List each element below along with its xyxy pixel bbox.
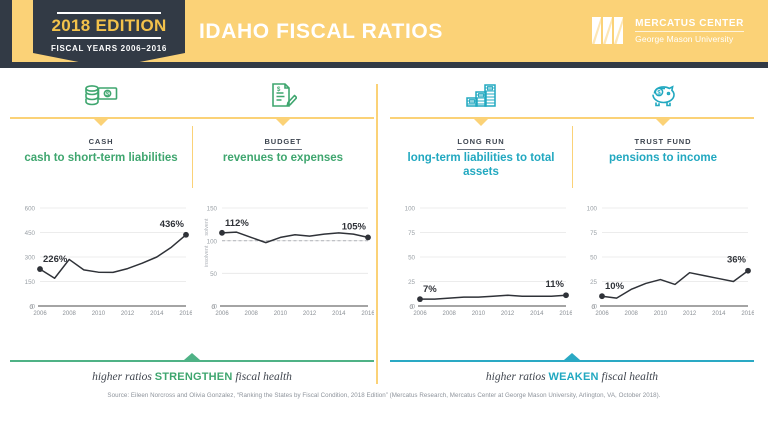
long-run-ratio-chart: 025507510002006200820102012201420167%11% <box>390 196 572 334</box>
icon-row-left: $ $ <box>10 78 374 118</box>
svg-text:75: 75 <box>590 230 597 237</box>
footer-emphasis-left: STRENGTHEN <box>155 371 233 383</box>
svg-text:25: 25 <box>590 279 597 286</box>
icon-row-right: $ <box>390 78 754 118</box>
badge-rule-top <box>57 12 161 14</box>
icon-cell-cash: $ <box>10 78 192 114</box>
icon-cell-trust-fund: $ <box>572 78 754 114</box>
footer-prefix-left: higher ratios <box>92 371 155 383</box>
category-long-run: LONG RUN <box>390 131 572 150</box>
content-area: $ $ CASH BUDGE <box>0 68 768 432</box>
svg-text:2010: 2010 <box>472 311 486 317</box>
svg-text:100: 100 <box>587 206 598 213</box>
category-title-long-run: long-term liabilities to total assets <box>390 151 572 179</box>
page-header: 2018 EDITION FISCAL YEARS 2006–2016 IDAH… <box>0 0 768 68</box>
category-budget: BUDGET <box>192 131 374 150</box>
svg-text:2016: 2016 <box>741 311 754 317</box>
footer-strengthen: higher ratios STRENGTHEN fiscal health <box>10 360 374 383</box>
svg-text:75: 75 <box>408 230 415 237</box>
panel-strengthen: $ $ CASH BUDGE <box>10 68 374 388</box>
chart-long-run: 025507510002006200820102012201420167%11% <box>390 196 572 334</box>
svg-text:150: 150 <box>25 279 36 286</box>
category-title-budget: revenues to expenses <box>192 151 374 165</box>
chart-trust-fund: 0255075100020062008201020122014201610%36… <box>572 196 754 334</box>
chart-budget: 050100150solventinsolvent020062008201020… <box>192 196 374 334</box>
svg-text:436%: 436% <box>160 219 185 230</box>
cash-bills-icon: $ <box>84 83 118 109</box>
svg-text:2014: 2014 <box>712 311 726 317</box>
svg-text:$: $ <box>106 92 110 98</box>
footer-text-right: higher ratios WEAKEN fiscal health <box>390 371 754 383</box>
svg-text:11%: 11% <box>546 279 565 290</box>
arrow-cash <box>94 119 108 126</box>
svg-text:7%: 7% <box>423 284 437 295</box>
budget-document-icon: $ <box>269 82 297 110</box>
svg-text:2008: 2008 <box>245 311 259 317</box>
gold-rule-right <box>390 117 754 119</box>
mercatus-logo: MERCATUS CENTER George Mason University <box>592 17 744 44</box>
footer-suffix-left: fiscal health <box>232 371 291 383</box>
arrow-budget <box>276 119 290 126</box>
mercatus-logo-subtitle: George Mason University <box>635 34 744 44</box>
svg-text:2016: 2016 <box>559 311 572 317</box>
stacked-bills-icon <box>465 82 497 110</box>
gold-rule-left <box>10 117 374 119</box>
svg-text:50: 50 <box>210 271 217 278</box>
mercatus-logo-text: MERCATUS CENTER George Mason University <box>635 18 744 44</box>
svg-text:2016: 2016 <box>179 311 192 317</box>
svg-text:2008: 2008 <box>63 311 77 317</box>
category-title-trust-fund: pensions to income <box>572 151 754 165</box>
arrow-trust-fund <box>656 119 670 126</box>
mercatus-logo-name: MERCATUS CENTER <box>635 18 744 29</box>
svg-text:2016: 2016 <box>361 311 374 317</box>
category-trust-fund: TRUST FUND <box>572 131 754 150</box>
category-label-trust-fund: TRUST FUND <box>635 137 692 150</box>
svg-text:2014: 2014 <box>332 311 346 317</box>
mercatus-logo-divider <box>635 31 744 32</box>
footer-line-left <box>10 360 374 362</box>
svg-text:2006: 2006 <box>413 311 427 317</box>
category-label-budget: BUDGET <box>264 137 301 150</box>
svg-text:2014: 2014 <box>530 311 544 317</box>
svg-text:0: 0 <box>410 304 414 311</box>
category-cash: CASH <box>10 131 192 150</box>
svg-text:insolvent: insolvent <box>204 245 210 267</box>
svg-text:300: 300 <box>25 255 36 262</box>
chart-cash: 0150300450600020062008201020122014201622… <box>10 196 192 334</box>
svg-text:2006: 2006 <box>215 311 229 317</box>
footer-suffix-right: fiscal health <box>599 371 658 383</box>
footer-weaken: higher ratios WEAKEN fiscal health <box>390 360 754 383</box>
svg-text:2012: 2012 <box>501 311 515 317</box>
footer-triangle-up-right <box>564 353 580 360</box>
arrow-long-run <box>474 119 488 126</box>
svg-text:2006: 2006 <box>595 311 609 317</box>
panel-weaken: $ LONG RUN TRUST FUND long-term liabilit… <box>390 68 754 388</box>
icon-cell-budget: $ <box>192 78 374 114</box>
svg-text:100: 100 <box>405 206 416 213</box>
svg-text:2014: 2014 <box>150 311 164 317</box>
badge-rule-bottom <box>57 37 161 39</box>
svg-text:2012: 2012 <box>121 311 135 317</box>
svg-text:150: 150 <box>207 206 218 213</box>
footer-text-left: higher ratios STRENGTHEN fiscal health <box>10 371 374 383</box>
trust-fund-ratio-chart: 0255075100020062008201020122014201610%36… <box>572 196 754 334</box>
svg-text:0: 0 <box>212 304 216 311</box>
svg-text:600: 600 <box>25 206 36 213</box>
svg-text:2008: 2008 <box>625 311 639 317</box>
svg-text:solvent: solvent <box>204 218 210 236</box>
category-label-cash: CASH <box>89 137 114 150</box>
svg-text:105%: 105% <box>342 221 367 232</box>
svg-text:2012: 2012 <box>303 311 317 317</box>
svg-text:2010: 2010 <box>92 311 106 317</box>
svg-text:2012: 2012 <box>683 311 697 317</box>
badge-years-text: FISCAL YEARS 2006–2016 <box>33 44 185 53</box>
cash-ratio-chart: 0150300450600020062008201020122014201622… <box>10 196 192 334</box>
center-divider <box>376 84 378 384</box>
svg-text:2010: 2010 <box>654 311 668 317</box>
svg-text:50: 50 <box>408 255 415 262</box>
svg-text:0: 0 <box>592 304 596 311</box>
svg-text:112%: 112% <box>225 218 249 229</box>
budget-ratio-chart: 050100150solventinsolvent020062008201020… <box>192 196 374 334</box>
svg-text:36%: 36% <box>727 255 747 266</box>
svg-text:2008: 2008 <box>443 311 457 317</box>
svg-text:25: 25 <box>408 279 415 286</box>
category-label-long-run: LONG RUN <box>457 137 504 150</box>
footer-emphasis-right: WEAKEN <box>549 371 599 383</box>
svg-text:2010: 2010 <box>274 311 288 317</box>
svg-text:0: 0 <box>30 304 34 311</box>
footer-prefix-right: higher ratios <box>486 371 549 383</box>
icon-cell-long-run <box>390 78 572 114</box>
source-citation: Source: Eileen Norcross and Olivia Gonza… <box>0 392 768 399</box>
svg-text:2006: 2006 <box>33 311 47 317</box>
svg-text:450: 450 <box>25 230 36 237</box>
svg-text:100: 100 <box>207 238 218 245</box>
badge-edition-text: 2018 EDITION <box>33 16 185 36</box>
footer-line-right <box>390 360 754 362</box>
svg-text:50: 50 <box>590 255 597 262</box>
mercatus-logo-mark <box>592 17 628 44</box>
piggy-bank-icon: $ <box>649 83 677 109</box>
page-title: IDAHO FISCAL RATIOS <box>199 20 443 44</box>
svg-text:10%: 10% <box>605 281 625 292</box>
footer-triangle-up-left <box>184 353 200 360</box>
svg-text:$: $ <box>277 87 281 93</box>
svg-text:226%: 226% <box>43 254 68 265</box>
category-title-cash: cash to short-term liabilities <box>10 151 192 165</box>
